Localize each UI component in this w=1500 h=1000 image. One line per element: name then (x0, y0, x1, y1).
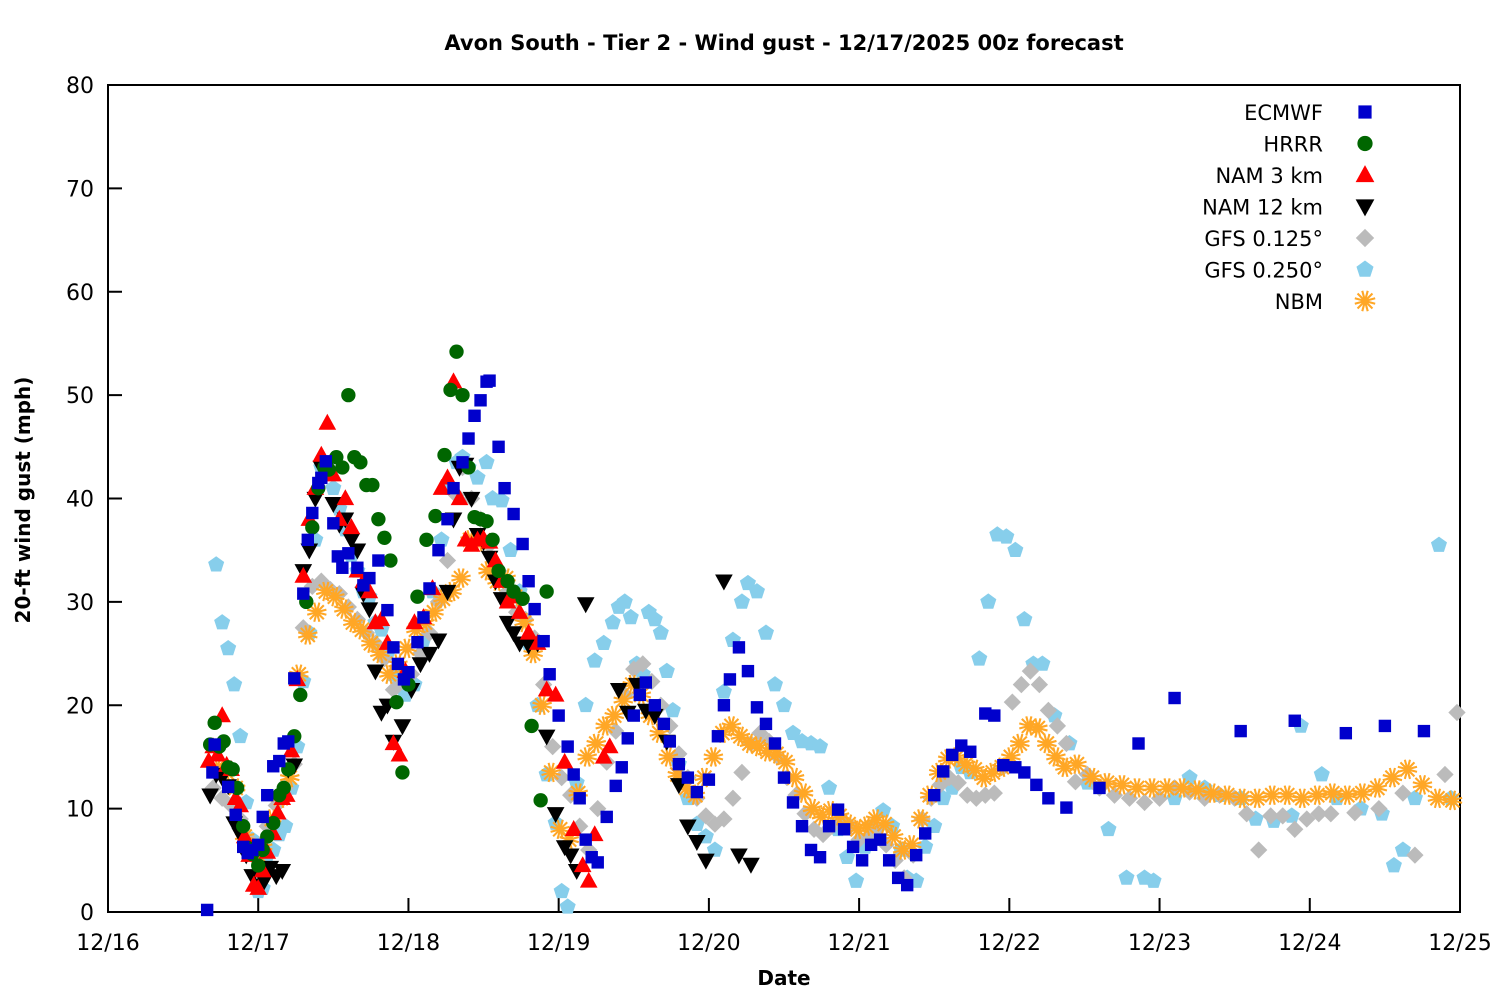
data-point-marker (733, 641, 745, 653)
data-point-marker (1093, 782, 1105, 794)
data-point-marker (411, 636, 423, 648)
data-point-marker (456, 456, 468, 468)
data-point-marker (691, 786, 703, 798)
data-point-marker (649, 699, 661, 711)
data-point-marker (580, 833, 592, 845)
data-point-marker (856, 854, 868, 866)
y-tick-label: 30 (66, 591, 94, 616)
data-point-marker (592, 856, 604, 868)
data-point-marker (423, 582, 435, 594)
data-point-marker (874, 833, 886, 845)
data-point-marker (402, 666, 414, 678)
data-point-marker (787, 796, 799, 808)
data-point-marker (363, 572, 375, 584)
data-point-marker (273, 755, 285, 767)
data-point-marker (537, 635, 549, 647)
data-point-marker (474, 394, 486, 406)
data-point-marker (1340, 727, 1352, 739)
y-tick-label: 70 (66, 177, 94, 202)
x-tick-label: 12/17 (227, 931, 290, 956)
data-point-marker (387, 641, 399, 653)
data-point-marker (814, 851, 826, 863)
data-point-marker (573, 792, 585, 804)
data-point-marker (229, 809, 241, 821)
legend-label-ecmwf[interactable]: ECMWF (1244, 101, 1323, 125)
data-point-marker (673, 758, 685, 770)
data-point-marker (832, 803, 844, 815)
data-point-marker (1042, 792, 1054, 804)
data-point-marker (395, 765, 409, 779)
data-point-marker (419, 533, 433, 547)
data-point-marker (441, 513, 453, 525)
data-point-marker (261, 789, 273, 801)
data-point-marker (528, 603, 540, 615)
legend-label-gfs-0-250[interactable]: GFS 0.250° (1204, 259, 1323, 283)
data-point-marker (449, 345, 463, 359)
data-point-marker (252, 839, 264, 851)
y-tick-label: 60 (66, 281, 94, 306)
legend-marker-ecmwf[interactable] (1358, 105, 1371, 118)
data-point-marker (335, 460, 349, 474)
data-point-marker (751, 701, 763, 713)
data-point-marker (377, 531, 391, 545)
y-tick-label: 50 (66, 384, 94, 409)
data-point-marker (543, 668, 555, 680)
data-point-marker (516, 538, 528, 550)
data-point-marker (742, 665, 754, 677)
data-point-marker (277, 781, 291, 795)
data-point-marker (437, 448, 451, 462)
data-point-marker (760, 718, 772, 730)
data-point-marker (297, 587, 309, 599)
data-point-marker (533, 793, 547, 807)
data-point-marker (201, 904, 213, 916)
y-axis-label: 20-ft wind gust (mph) (11, 377, 35, 624)
data-point-marker (341, 388, 355, 402)
data-point-marker (552, 709, 564, 721)
data-point-marker (257, 811, 269, 823)
data-point-marker (703, 773, 715, 785)
x-tick-label: 12/22 (978, 931, 1041, 956)
data-point-marker (682, 771, 694, 783)
y-tick-label: 20 (66, 694, 94, 719)
data-point-marker (883, 854, 895, 866)
data-point-marker (381, 604, 393, 616)
data-point-marker (1234, 725, 1246, 737)
y-tick-label: 10 (66, 798, 94, 823)
data-point-marker (455, 388, 469, 402)
data-point-marker (462, 432, 474, 444)
data-point-marker (988, 709, 1000, 721)
data-point-marker (320, 455, 332, 467)
data-point-marker (207, 716, 221, 730)
x-tick-label: 12/23 (1128, 931, 1191, 956)
data-point-marker (206, 766, 218, 778)
data-point-marker (838, 823, 850, 835)
data-point-marker (1418, 725, 1430, 737)
data-point-marker (964, 746, 976, 758)
data-point-marker (1168, 692, 1180, 704)
data-point-marker (928, 789, 940, 801)
data-point-marker (305, 520, 319, 534)
x-tick-label: 12/24 (1278, 931, 1341, 956)
data-point-marker (302, 534, 314, 546)
data-point-marker (468, 410, 480, 422)
data-point-marker (712, 730, 724, 742)
data-point-marker (910, 849, 922, 861)
data-point-marker (769, 737, 781, 749)
chart-page: Avon South - Tier 2 - Wind gust - 12/17/… (0, 0, 1500, 1000)
x-tick-label: 12/25 (1428, 931, 1491, 956)
data-point-marker (428, 509, 442, 523)
data-point-marker (282, 735, 294, 747)
data-point-marker (539, 584, 553, 598)
data-point-marker (1060, 801, 1072, 813)
data-point-marker (410, 590, 424, 604)
data-point-marker (293, 688, 307, 702)
legend-label-hrrr[interactable]: HRRR (1263, 133, 1323, 157)
data-point-marker (485, 533, 499, 547)
data-point-marker (1132, 737, 1144, 749)
data-point-marker (492, 441, 504, 453)
data-point-marker (342, 547, 354, 559)
data-point-marker (498, 482, 510, 494)
legend-label-nam-12-km[interactable]: NAM 12 km (1202, 196, 1323, 220)
data-point-marker (306, 507, 318, 519)
data-point-marker (1018, 766, 1030, 778)
data-point-marker (383, 553, 397, 567)
data-point-marker (524, 719, 538, 733)
data-point-marker (901, 879, 913, 891)
data-point-marker (1030, 779, 1042, 791)
data-point-marker (507, 508, 519, 520)
data-point-marker (479, 514, 493, 528)
data-point-marker (208, 738, 220, 750)
data-point-marker (351, 562, 363, 574)
data-point-marker (616, 761, 628, 773)
data-point-marker (515, 592, 529, 606)
y-tick-label: 40 (66, 488, 94, 513)
data-point-marker (847, 841, 859, 853)
x-tick-label: 12/20 (677, 931, 740, 956)
data-point-marker (483, 374, 495, 386)
data-point-marker (640, 676, 652, 688)
data-point-marker (372, 554, 384, 566)
data-point-marker (353, 455, 367, 469)
data-point-marker (718, 699, 730, 711)
data-point-marker (997, 759, 1009, 771)
data-point-marker (724, 673, 736, 685)
data-point-marker (251, 858, 265, 872)
y-tick-label: 0 (80, 901, 94, 926)
data-point-marker (796, 820, 808, 832)
data-point-marker (447, 482, 459, 494)
legend-label-nam-3-km[interactable]: NAM 3 km (1215, 164, 1323, 188)
x-tick-label: 12/16 (76, 931, 139, 956)
legend-label-gfs-0-125[interactable]: GFS 0.125° (1204, 227, 1323, 251)
data-point-marker (610, 780, 622, 792)
legend-label-nbm[interactable]: NBM (1275, 290, 1323, 314)
data-point-marker (389, 695, 403, 709)
page-title: Avon South - Tier 2 - Wind gust - 12/17/… (444, 31, 1123, 55)
data-point-marker (236, 819, 250, 833)
x-tick-label: 12/19 (527, 931, 590, 956)
data-point-marker (417, 611, 429, 623)
data-point-marker (823, 820, 835, 832)
data-point-marker (371, 512, 385, 526)
data-point-marker (432, 544, 444, 556)
wind-gust-scatter-chart: Avon South - Tier 2 - Wind gust - 12/17/… (0, 0, 1500, 1000)
data-point-marker (226, 762, 240, 776)
data-point-marker (222, 781, 234, 793)
x-tick-label: 12/18 (377, 931, 440, 956)
data-point-marker (664, 735, 676, 747)
data-point-marker (1289, 715, 1301, 727)
x-tick-label: 12/21 (827, 931, 890, 956)
data-point-marker (658, 718, 670, 730)
data-point-marker (365, 478, 379, 492)
data-point-marker (561, 740, 573, 752)
data-point-marker (522, 575, 534, 587)
data-point-marker (628, 709, 640, 721)
y-tick-label: 80 (66, 74, 94, 99)
data-point-marker (622, 732, 634, 744)
data-point-marker (601, 811, 613, 823)
data-point-marker (315, 472, 327, 484)
data-point-marker (937, 765, 949, 777)
data-point-marker (778, 771, 790, 783)
data-point-marker (288, 672, 300, 684)
data-point-marker (919, 827, 931, 839)
data-point-marker (634, 689, 646, 701)
data-point-marker (327, 517, 339, 529)
data-point-marker (1379, 720, 1391, 732)
data-point-marker (336, 562, 348, 574)
data-point-marker (567, 768, 579, 780)
x-axis-label: Date (757, 966, 810, 990)
legend-marker-hrrr[interactable] (1357, 136, 1372, 151)
